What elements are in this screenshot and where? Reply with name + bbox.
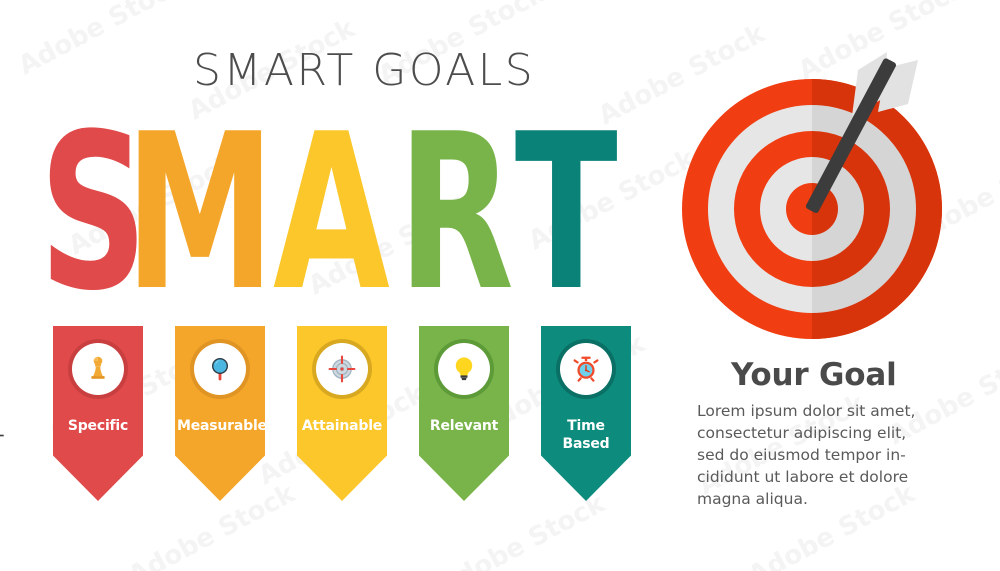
- ribbon-label: Measurable: [175, 418, 265, 436]
- wordmark-letter-m: M: [125, 112, 275, 312]
- ribbon-attainable[interactable]: Attainable: [297, 326, 387, 501]
- ribbon-icon-badge: [72, 343, 124, 395]
- watermark-tile: Adobe Stock: [14, 0, 190, 81]
- dartboard-target-illustration: [672, 36, 982, 346]
- goal-body-text: Lorem ipsum dolor sit amet, consectetur …: [697, 400, 972, 510]
- goal-body-line: sed do eiusmod tempor in-: [697, 444, 972, 466]
- alarm-clock-icon: [571, 354, 601, 384]
- goal-heading: Your Goal: [731, 357, 897, 393]
- crosshair-target-icon: [327, 354, 357, 384]
- svg-text:R: R: [398, 112, 514, 312]
- wordmark-letter-r: R: [398, 112, 514, 312]
- ribbon-icon-badge: [438, 343, 490, 395]
- magnifier-icon: [205, 354, 235, 384]
- goal-body-line: consectetur adipiscing elit,: [697, 422, 972, 444]
- svg-text:A: A: [273, 112, 390, 312]
- ribbon-icon-badge: [194, 343, 246, 395]
- wordmark-letter-t: T: [515, 112, 618, 312]
- ribbon-icon-badge: [316, 343, 368, 395]
- infographic-canvas: Adobe Stock Adobe Stock Adobe Stock Adob…: [0, 0, 1000, 571]
- svg-text:T: T: [515, 112, 618, 312]
- page-title: SMART GOALS: [193, 49, 535, 93]
- ribbon-label: Time Based: [541, 418, 631, 454]
- lightbulb-icon: [449, 354, 479, 384]
- svg-text:M: M: [125, 112, 275, 312]
- ribbon-icon-badge: [560, 343, 612, 395]
- goal-body-line: magna aliqua.: [697, 488, 972, 510]
- ribbon-label: Specific: [53, 418, 143, 436]
- smart-ribbons-row: Specific Measurable: [53, 326, 653, 506]
- ribbon-label-line: Based: [543, 436, 629, 454]
- goal-body-line: cididunt ut labore et dolore: [697, 466, 972, 488]
- ribbon-label: Relevant: [419, 418, 509, 436]
- ribbon-label-line: Time: [543, 418, 629, 436]
- ribbon-time-based[interactable]: Time Based: [541, 326, 631, 501]
- chess-pawn-icon: [83, 354, 113, 384]
- ribbon-specific[interactable]: Specific: [53, 326, 143, 501]
- smart-wordmark: S M A R T: [0, 112, 700, 312]
- goal-body-line: Lorem ipsum dolor sit amet,: [697, 400, 972, 422]
- ribbon-label: Attainable: [297, 418, 387, 436]
- wordmark-letter-a: A: [273, 112, 390, 312]
- ribbon-relevant[interactable]: Relevant: [419, 326, 509, 501]
- adobe-stock-watermark-label: Adobe Stock | #178526576: [0, 317, 4, 553]
- ribbon-measurable[interactable]: Measurable: [175, 326, 265, 501]
